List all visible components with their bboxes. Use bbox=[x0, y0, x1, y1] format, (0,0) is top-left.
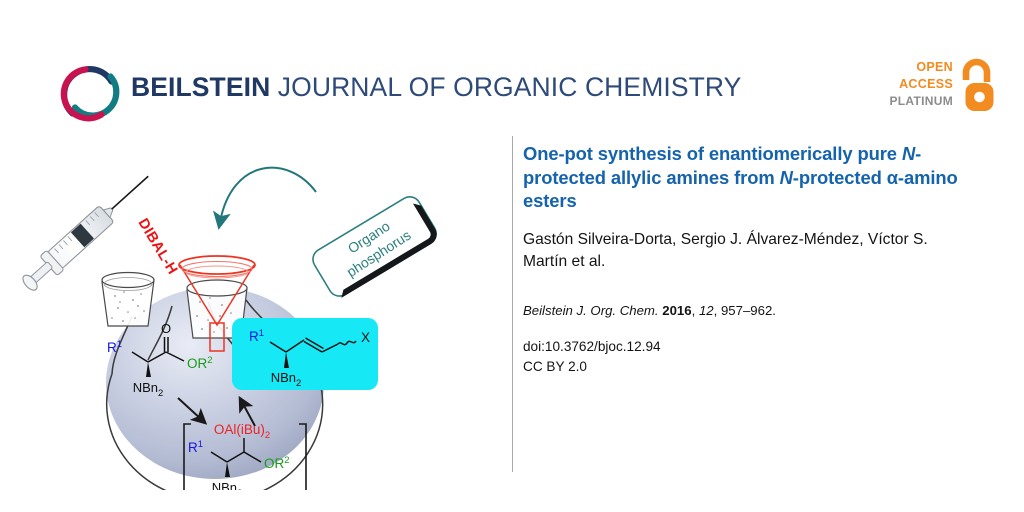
graphical-abstract-figure: DIBAL-H Organo bbox=[20, 130, 490, 490]
prod-x-label: X bbox=[361, 330, 370, 345]
article-title-italic-n1: N bbox=[902, 143, 915, 164]
open-access-line-open: OPEN bbox=[889, 59, 953, 76]
beilstein-triple-arc-logo-icon bbox=[55, 57, 123, 125]
open-padlock-icon bbox=[957, 58, 997, 115]
article-title-italic-n2: N bbox=[780, 167, 793, 188]
masthead-header: BEILSTEIN JOURNAL OF ORGANIC CHEMISTRY O… bbox=[0, 0, 1024, 132]
int-amine-label: NBn2 bbox=[212, 480, 243, 490]
addition-arrow bbox=[220, 168, 316, 222]
sm-carbonyl-o: O bbox=[161, 321, 171, 336]
int-ester-label: OR2 bbox=[264, 455, 290, 471]
left-neck-joint bbox=[102, 273, 154, 327]
open-access-badge: OPEN ACCESS PLATINUM bbox=[893, 58, 997, 120]
syringe-reagent-label: DIBAL-H bbox=[135, 216, 181, 278]
open-access-line-access: ACCESS bbox=[889, 76, 953, 93]
open-access-text-stack: OPEN ACCESS PLATINUM bbox=[889, 59, 953, 110]
journal-wordmark-light: JOURNAL OF ORGANIC CHEMISTRY bbox=[270, 72, 741, 102]
article-title-seg1: One-pot synthesis of enantiomerically pu… bbox=[523, 143, 902, 164]
citation-pages: 957–962. bbox=[721, 303, 776, 318]
journal-wordmark: BEILSTEIN JOURNAL OF ORGANIC CHEMISTRY bbox=[131, 70, 741, 104]
organophosphorus-vial: Organo phosphorus bbox=[309, 193, 441, 301]
article-metadata-panel: One-pot synthesis of enantiomerically pu… bbox=[523, 142, 971, 378]
article-authors: Gastón Silveira-Dorta, Sergio J. Álvarez… bbox=[523, 229, 971, 274]
article-doi[interactable]: doi:10.3762/bjoc.12.94 bbox=[523, 337, 971, 358]
column-divider bbox=[512, 136, 513, 472]
open-access-line-platinum: PLATINUM bbox=[889, 93, 953, 110]
article-license: CC BY 2.0 bbox=[523, 357, 971, 378]
citation-year: 2016 bbox=[662, 303, 691, 318]
citation-volume: 12 bbox=[699, 303, 714, 318]
article-citation: Beilstein J. Org. Chem. 2016, 12, 957–96… bbox=[523, 301, 971, 320]
citation-journal: Beilstein J. Org. Chem. bbox=[523, 303, 659, 318]
journal-wordmark-bold: BEILSTEIN bbox=[131, 72, 270, 102]
article-title: One-pot synthesis of enantiomerically pu… bbox=[523, 142, 971, 213]
